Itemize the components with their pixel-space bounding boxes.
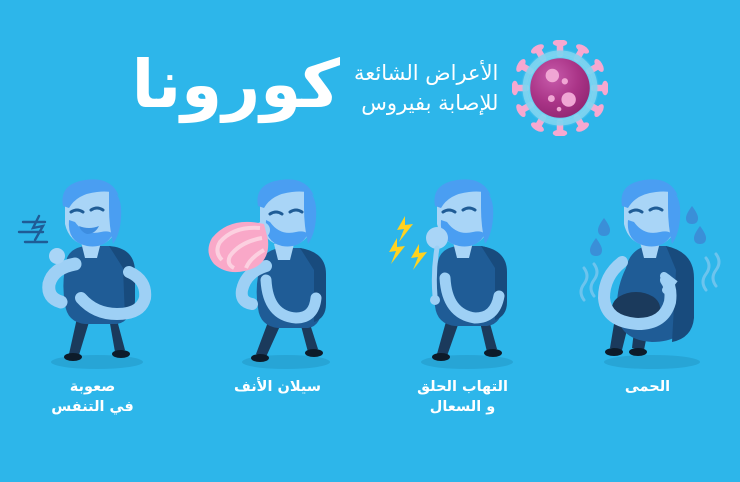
caption-line-1: الحمى — [625, 378, 670, 398]
infographic-poster: الأعراض الشائعة للإصابة بفيروس كورونا — [0, 0, 740, 482]
subtitle-line-2: للإصابة بفيروس — [354, 88, 498, 118]
man-shortness-of-breath-icon — [5, 172, 180, 372]
page-title: كورونا — [132, 52, 340, 118]
caption-line-1: سيلان الأنف — [234, 378, 321, 398]
subtitle-line-1: الأعراض الشائعة — [354, 58, 498, 88]
header: الأعراض الشائعة للإصابة بفيروس كورونا — [0, 28, 740, 148]
shoe-right — [629, 348, 647, 356]
symptom-item-fever: الحمى — [560, 172, 735, 440]
symptom-item-runny-nose: سيلان الأنف — [190, 172, 365, 440]
shoe-left — [605, 348, 623, 356]
coronavirus-icon — [512, 40, 608, 136]
breath-lines — [19, 216, 47, 242]
ground-shadow — [604, 355, 700, 369]
symptom-caption-fever: الحمى — [625, 378, 670, 398]
symptom-caption-sore-throat-cough: التهاب الحلق و السعال — [417, 378, 508, 417]
man-blowing-nose-tissue-icon — [190, 172, 365, 372]
pain-bolts — [389, 216, 427, 270]
shoe-left — [251, 354, 269, 362]
symptoms-row: صعوبة في التنفس — [0, 172, 740, 442]
shoe-left — [64, 353, 82, 361]
man-coughing-sore-throat-icon — [375, 172, 550, 372]
shoe-right — [305, 349, 323, 357]
symptom-item-difficulty-breathing: صعوبة في التنفس — [5, 172, 180, 440]
caption-line-2: و السعال — [417, 398, 508, 418]
symptom-item-sore-throat-cough: التهاب الحلق و السعال — [375, 172, 550, 440]
symptom-caption-runny-nose: سيلان الأنف — [234, 378, 321, 398]
shoe-right — [484, 349, 502, 357]
subtitle: الأعراض الشائعة للإصابة بفيروس — [354, 58, 498, 119]
symptom-caption-difficulty-breathing: صعوبة في التنفس — [51, 378, 133, 417]
caption-line-1: صعوبة — [51, 378, 133, 398]
shoe-left — [432, 353, 450, 361]
shoe-right — [112, 350, 130, 358]
caption-line-1: التهاب الحلق — [417, 378, 508, 398]
man-fever-sweating-icon — [560, 172, 735, 372]
tissue — [208, 222, 268, 272]
arm-to-mouth — [434, 248, 437, 296]
caption-line-2: في التنفس — [51, 398, 133, 418]
